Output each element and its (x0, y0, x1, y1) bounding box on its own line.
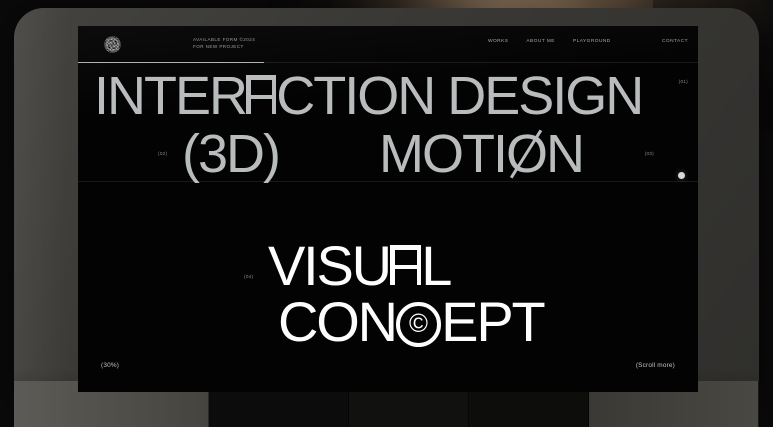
index-label-04: (04) (244, 274, 253, 279)
scroll-percent-label: (30%) (101, 362, 119, 369)
visual-headline: VISUL (78, 238, 698, 294)
site-footer: (30%) (Scroll more) (78, 350, 698, 392)
copyright-mark: © (409, 312, 428, 338)
primary-nav: WORKS ABOUT ME PLAYGROUND CONTACT (488, 39, 688, 44)
hero-section: INTERCTION DESIGN (3D) MOTION (01) (02) … (78, 63, 698, 181)
nav-link-contact[interactable]: CONTACT (662, 39, 688, 44)
hero-3d-label: (3D) (182, 127, 279, 181)
hero-motion-pre: MOTI (379, 127, 506, 181)
hero-line1-pre: INTER (94, 69, 246, 123)
index-label-03: (03) (645, 151, 654, 156)
availability-note: AVAILABLE FORM ©2024 FOR NEW PROJECT (193, 36, 255, 50)
nav-link-about-me[interactable]: ABOUT ME (526, 39, 555, 44)
scroll-more-hint[interactable]: (Scroll more) (636, 362, 675, 369)
concept-post: EPT (441, 294, 543, 350)
stylized-a-glyph-icon (390, 245, 421, 285)
hero-motion-post: N (546, 127, 583, 181)
screen: AVAILABLE FORM ©2024 FOR NEW PROJECT WOR… (78, 26, 698, 392)
visual-post: L (421, 238, 450, 294)
index-label-01: (01) (679, 79, 688, 84)
slashed-o-glyph-icon: O (506, 127, 546, 181)
radial-mandala-logo-icon[interactable] (101, 33, 124, 56)
nav-link-playground[interactable]: PLAYGROUND (573, 39, 611, 44)
cursor-dot-indicator[interactable] (678, 172, 685, 179)
stylized-a-glyph-icon (246, 75, 276, 114)
concept-headline: CON©EPT (78, 294, 698, 350)
index-label-02: (02) (158, 151, 167, 156)
availability-line-1: AVAILABLE FORM ©2024 (193, 36, 255, 43)
hero-line1-post: CTION DESIGN (276, 69, 642, 123)
hero-headline-line-2: (3D) MOTION (78, 127, 698, 181)
visual-concept-section: VISUL CON©EPT (04) (78, 182, 698, 352)
visual-pre: VISU (268, 238, 390, 294)
site-header: AVAILABLE FORM ©2024 FOR NEW PROJECT WOR… (78, 26, 698, 62)
hero-headline-line-1: INTERCTION DESIGN (78, 69, 698, 123)
scene-backdrop: AVAILABLE FORM ©2024 FOR NEW PROJECT WOR… (0, 0, 773, 427)
copyright-glyph-icon: © (396, 302, 441, 347)
availability-line-2: FOR NEW PROJECT (193, 43, 255, 50)
nav-link-works[interactable]: WORKS (488, 39, 508, 44)
concept-pre: CON (278, 294, 396, 350)
